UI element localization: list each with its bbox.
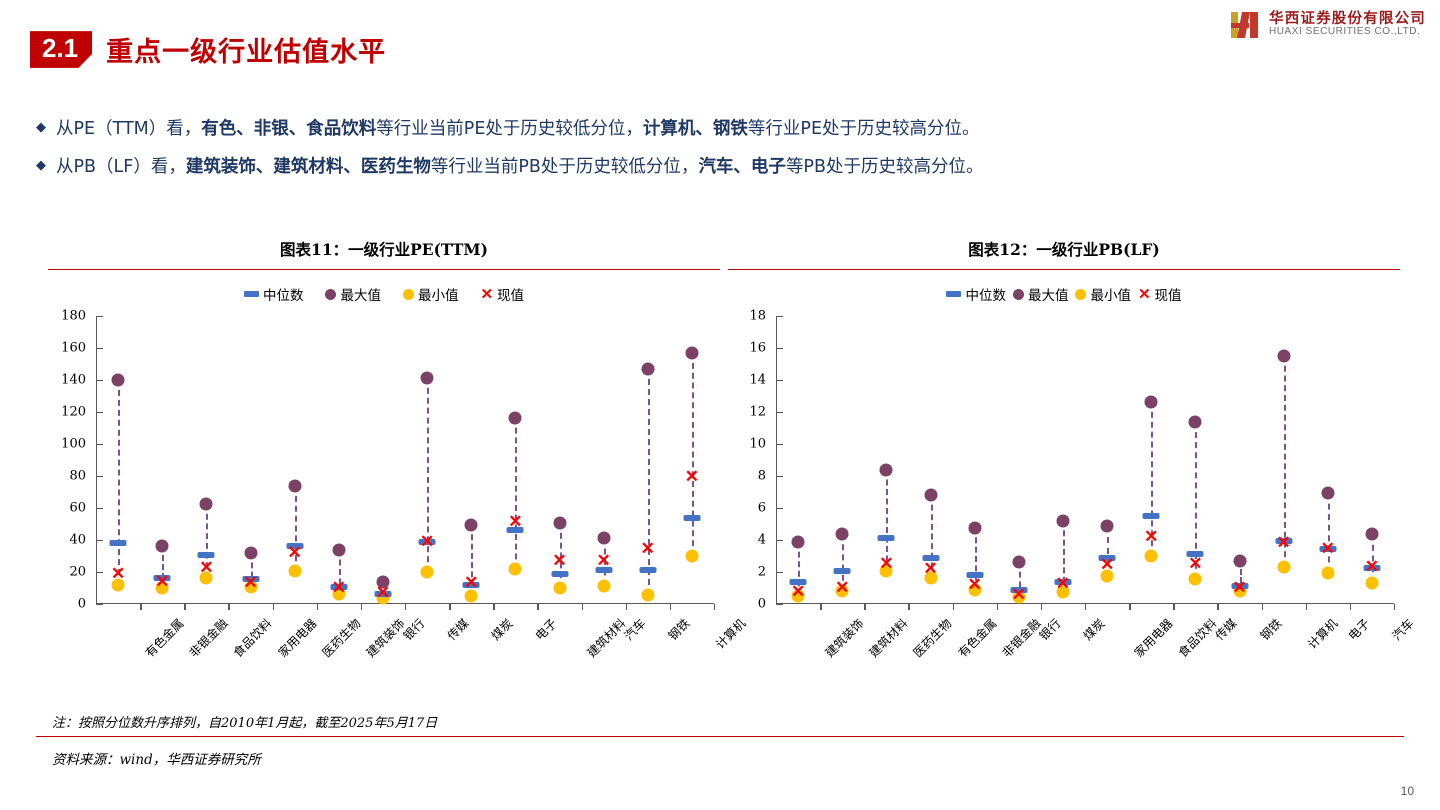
bullet-text-pb: 从PB（LF）看，建筑装饰、建筑材料、医药生物等行业当前PB处于历史较低分位，汽… — [56, 156, 984, 180]
x-axis-label: 家用电器 — [274, 615, 320, 661]
legend-label: 最大值 — [1028, 284, 1069, 304]
data-point-median — [110, 540, 127, 546]
legend-label: 最小值 — [1090, 284, 1131, 304]
data-point-current: ✕ — [879, 559, 893, 569]
data-point-max — [244, 546, 257, 559]
x-tick-mark — [714, 604, 715, 610]
data-point-min — [685, 550, 698, 563]
chart-legend-pb: 中位数最大值最小值✕现值 — [728, 284, 1400, 304]
x-axis-label: 传媒 — [443, 615, 472, 644]
x-axis-label: 钢铁 — [664, 615, 693, 644]
y-tick-mark — [776, 604, 783, 605]
y-tick-mark — [96, 380, 103, 381]
y-tick-label: 60 — [69, 501, 86, 516]
x-axis-label: 银行 — [1035, 615, 1064, 644]
data-point-min — [1321, 566, 1334, 579]
x-axis-label: 食品饮料 — [1174, 615, 1220, 661]
logo-mark-icon — [1228, 8, 1262, 42]
legend-item-median: 中位数 — [946, 284, 1006, 304]
data-point-current: ✕ — [1100, 561, 1114, 571]
title-divider — [48, 269, 720, 270]
y-tick-mark — [96, 572, 103, 573]
y-tick-label: 0 — [758, 597, 766, 612]
data-point-current: ✕ — [968, 580, 982, 590]
x-axis-label: 计算机 — [712, 615, 749, 652]
data-point-current: ✕ — [155, 577, 169, 587]
legend-bar-icon — [244, 291, 259, 297]
x-axis-label: 家用电器 — [1130, 615, 1176, 661]
legend-x-icon: ✕ — [480, 287, 493, 302]
y-tick-mark — [96, 540, 103, 541]
y-tick-mark — [776, 476, 783, 477]
data-point-min — [288, 565, 301, 578]
data-point-min — [1365, 577, 1378, 590]
y-tick-label: 14 — [749, 373, 766, 388]
x-axis-label: 建筑装饰 — [821, 615, 867, 661]
y-tick-mark — [776, 508, 783, 509]
source-line: 资料来源：wind，华西证券研究所 — [52, 748, 261, 768]
page-title: 重点一级行业估值水平 — [106, 30, 386, 69]
data-point-max — [1012, 556, 1025, 569]
legend-dot-icon — [1013, 289, 1024, 300]
x-axis-label: 传媒 — [1212, 615, 1241, 644]
legend-label: 最大值 — [340, 284, 381, 304]
y-tick-label: 80 — [69, 469, 86, 484]
y-tick-label: 8 — [758, 469, 766, 484]
data-point-max — [112, 374, 125, 387]
legend-item-current: ✕现值 — [480, 284, 524, 304]
legend-dot-icon — [1075, 289, 1086, 300]
y-tick-label: 18 — [749, 309, 766, 324]
bullet-text-pe: 从PE（TTM）看，有色、非银、食品饮料等行业当前PE处于历史较低分位，计算机、… — [56, 118, 980, 142]
data-point-max — [836, 528, 849, 541]
data-point-max — [465, 518, 478, 531]
y-axis-line — [776, 316, 777, 604]
data-region-pb: ✕✕✕✕✕✕✕✕✕✕✕✕✕✕ — [776, 316, 1394, 604]
legend-item-median: 中位数 — [244, 284, 304, 304]
data-point-max — [288, 479, 301, 492]
range-stem — [515, 418, 517, 568]
data-point-median — [683, 515, 700, 521]
range-stem — [118, 380, 120, 585]
data-point-current: ✕ — [1321, 544, 1335, 554]
note-divider — [36, 736, 1404, 737]
y-tick-mark — [96, 412, 103, 413]
x-axis-label: 非银金融 — [998, 615, 1044, 661]
data-point-current: ✕ — [685, 472, 699, 482]
data-point-max — [968, 522, 981, 535]
bullet-item-pe: ◆ 从PE（TTM）看，有色、非银、食品饮料等行业当前PE处于历史较低分位，计算… — [36, 118, 1416, 142]
data-point-current: ✕ — [199, 563, 213, 573]
data-point-current: ✕ — [111, 569, 125, 579]
data-point-current: ✕ — [243, 578, 257, 588]
data-point-max — [641, 362, 654, 375]
y-tick-label: 0 — [78, 597, 86, 612]
data-point-max — [200, 498, 213, 511]
data-point-current: ✕ — [791, 587, 805, 597]
data-point-current: ✕ — [288, 548, 302, 558]
x-tick-mark — [1394, 604, 1395, 610]
y-tick-mark — [776, 316, 783, 317]
range-stem — [1328, 493, 1330, 573]
data-point-max — [1145, 395, 1158, 408]
chart-note: 注：按照分位数升序排列，自2010年1月起，截至2025年5月17日 — [52, 712, 437, 731]
bullet-list: ◆ 从PE（TTM）看，有色、非银、食品饮料等行业当前PE处于历史较低分位，计算… — [36, 118, 1416, 193]
y-tick-label: 140 — [61, 373, 86, 388]
data-point-current: ✕ — [1365, 562, 1379, 572]
data-point-median — [1143, 513, 1160, 519]
data-point-min — [1145, 550, 1158, 563]
data-region-pe: ✕✕✕✕✕✕✕✕✕✕✕✕✕✕ — [96, 316, 714, 604]
title-divider — [728, 269, 1400, 270]
section-header: 2.1 重点一级行业估值水平 — [30, 30, 386, 69]
data-point-max — [156, 539, 169, 552]
legend-label: 中位数 — [263, 284, 304, 304]
range-stem — [692, 353, 694, 556]
y-tick-label: 120 — [61, 405, 86, 420]
chart-title-pe: 图表11：一级行业PE(TTM) — [48, 238, 720, 260]
data-point-min — [553, 582, 566, 595]
y-tick-label: 10 — [749, 437, 766, 452]
data-point-min — [421, 566, 434, 579]
y-tick-label: 2 — [758, 565, 766, 580]
y-tick-mark — [776, 540, 783, 541]
data-point-current: ✕ — [1144, 532, 1158, 542]
data-point-max — [880, 464, 893, 477]
y-tick-label: 160 — [61, 341, 86, 356]
data-point-current: ✕ — [332, 583, 346, 593]
data-point-median — [878, 535, 895, 541]
data-point-current: ✕ — [1056, 579, 1070, 589]
y-tick-label: 40 — [69, 533, 86, 548]
y-tick-mark — [96, 508, 103, 509]
y-tick-mark — [776, 348, 783, 349]
data-point-max — [1365, 527, 1378, 540]
logo-text-en: HUAXI SECURITIES CO.,LTD. — [1269, 27, 1426, 38]
legend-item-max: 最大值 — [325, 284, 381, 304]
data-point-current: ✕ — [923, 564, 937, 574]
data-point-current: ✕ — [1012, 590, 1026, 600]
x-axis-label: 建筑装饰 — [362, 615, 408, 661]
data-point-max — [685, 346, 698, 359]
data-point-min — [641, 589, 654, 602]
data-point-current: ✕ — [376, 589, 390, 599]
chart-legend-pe: 中位数最大值最小值✕现值 — [48, 284, 720, 304]
legend-dot-icon — [403, 289, 414, 300]
data-point-min — [597, 580, 610, 593]
data-point-current: ✕ — [641, 544, 655, 554]
y-axis-line — [96, 316, 97, 604]
x-axis-label: 食品饮料 — [230, 615, 276, 661]
x-axis-label: 医药生物 — [318, 615, 364, 661]
legend-bar-icon — [946, 291, 961, 297]
legend-item-max: 最大值 — [1013, 284, 1069, 304]
legend-item-min: 最小值 — [1075, 284, 1131, 304]
data-point-max — [1321, 486, 1334, 499]
y-axis-pb: 024681012141618 — [728, 310, 776, 604]
legend-dot-icon — [325, 289, 336, 300]
data-point-median — [639, 567, 656, 573]
data-point-max — [1056, 514, 1069, 527]
data-point-max — [553, 517, 566, 530]
y-tick-label: 16 — [749, 341, 766, 356]
data-point-min — [1277, 561, 1290, 574]
data-point-max — [792, 536, 805, 549]
data-point-max — [597, 532, 610, 545]
x-axis-label: 有色金属 — [954, 615, 1000, 661]
x-axis-labels-pb: 建筑装饰建筑材料医药生物有色金属非银金融银行煤炭家用电器食品饮料传媒钢铁计算机电… — [776, 610, 1394, 694]
data-point-median — [551, 571, 568, 577]
x-axis-label: 钢铁 — [1256, 615, 1285, 644]
data-point-current: ✕ — [1232, 583, 1246, 593]
legend-label: 最小值 — [418, 284, 459, 304]
data-point-current: ✕ — [597, 556, 611, 566]
legend-item-min: 最小值 — [403, 284, 459, 304]
x-axis-label: 煤炭 — [1079, 615, 1108, 644]
x-axis-label: 电子 — [532, 615, 561, 644]
y-tick-mark — [96, 316, 103, 317]
x-axis-label: 银行 — [399, 615, 428, 644]
data-point-current: ✕ — [464, 578, 478, 588]
page-number: 10 — [1401, 784, 1414, 798]
x-axis-label: 非银金融 — [185, 615, 231, 661]
x-axis-label: 建筑材料 — [865, 615, 911, 661]
data-point-max — [1233, 554, 1246, 567]
company-logo: 华西证券股份有限公司 HUAXI SECURITIES CO.,LTD. — [1228, 8, 1426, 42]
data-point-max — [332, 544, 345, 557]
legend-x-icon: ✕ — [1138, 287, 1151, 302]
data-point-max — [1101, 520, 1114, 533]
x-axis-label: 医药生物 — [910, 615, 956, 661]
data-point-max — [924, 489, 937, 502]
y-tick-label: 6 — [758, 501, 766, 516]
data-point-min — [509, 562, 522, 575]
y-tick-label: 100 — [61, 437, 86, 452]
y-tick-label: 4 — [758, 533, 766, 548]
x-axis-label: 建筑材料 — [583, 615, 629, 661]
y-tick-mark — [96, 476, 103, 477]
plot-area-pe: 020406080100120140160180 ✕✕✕✕✕✕✕✕✕✕✕✕✕✕ … — [48, 310, 720, 610]
legend-label: 现值 — [497, 284, 524, 304]
data-point-current: ✕ — [1188, 559, 1202, 569]
y-tick-mark — [96, 444, 103, 445]
x-axis-label: 计算机 — [1303, 615, 1340, 652]
x-axis-labels-pe: 有色金属非银金融食品饮料家用电器医药生物建筑装饰银行传媒煤炭电子建筑材料汽车钢铁… — [96, 610, 714, 694]
data-point-current: ✕ — [508, 517, 522, 527]
data-point-current: ✕ — [835, 583, 849, 593]
y-tick-label: 12 — [749, 405, 766, 420]
data-point-max — [1189, 416, 1202, 429]
data-point-median — [834, 568, 851, 574]
bullet-marker-icon: ◆ — [36, 118, 46, 139]
y-tick-mark — [776, 572, 783, 573]
data-point-max — [509, 412, 522, 425]
y-tick-mark — [776, 444, 783, 445]
y-tick-mark — [96, 604, 103, 605]
legend-item-current: ✕现值 — [1138, 284, 1182, 304]
y-tick-mark — [96, 348, 103, 349]
range-stem — [648, 369, 650, 595]
legend-label: 中位数 — [965, 284, 1006, 304]
x-axis-label: 汽车 — [620, 615, 649, 644]
data-point-max — [421, 371, 434, 384]
legend-label: 现值 — [1155, 284, 1182, 304]
data-point-current: ✕ — [552, 557, 566, 567]
data-point-current: ✕ — [420, 537, 434, 547]
chart-panel-pb: 图表12：一级行业PB(LF) 中位数最大值最小值✕现值 02468101214… — [728, 238, 1400, 610]
y-tick-label: 180 — [61, 309, 86, 324]
bullet-marker-icon: ◆ — [36, 156, 46, 177]
plot-area-pb: 024681012141618 ✕✕✕✕✕✕✕✕✕✕✕✕✕✕ 建筑装饰建筑材料医… — [728, 310, 1400, 610]
x-axis-label: 有色金属 — [141, 615, 187, 661]
y-tick-label: 20 — [69, 565, 86, 580]
data-point-min — [1189, 573, 1202, 586]
section-number-badge: 2.1 — [30, 31, 92, 68]
y-tick-mark — [776, 380, 783, 381]
x-axis-label: 汽车 — [1388, 615, 1417, 644]
logo-text-cn: 华西证券股份有限公司 — [1269, 12, 1426, 28]
data-point-max — [1277, 350, 1290, 363]
bullet-item-pb: ◆ 从PB（LF）看，建筑装饰、建筑材料、医药生物等行业当前PB处于历史较低分位… — [36, 156, 1416, 180]
x-axis-label: 煤炭 — [487, 615, 516, 644]
x-axis-label: 电子 — [1344, 615, 1373, 644]
y-tick-mark — [776, 412, 783, 413]
data-point-current: ✕ — [1277, 538, 1291, 548]
chart-title-pb: 图表12：一级行业PB(LF) — [728, 238, 1400, 260]
y-axis-pe: 020406080100120140160180 — [48, 310, 96, 604]
chart-panel-pe: 图表11：一级行业PE(TTM) 中位数最大值最小值✕现值 0204060801… — [48, 238, 720, 610]
